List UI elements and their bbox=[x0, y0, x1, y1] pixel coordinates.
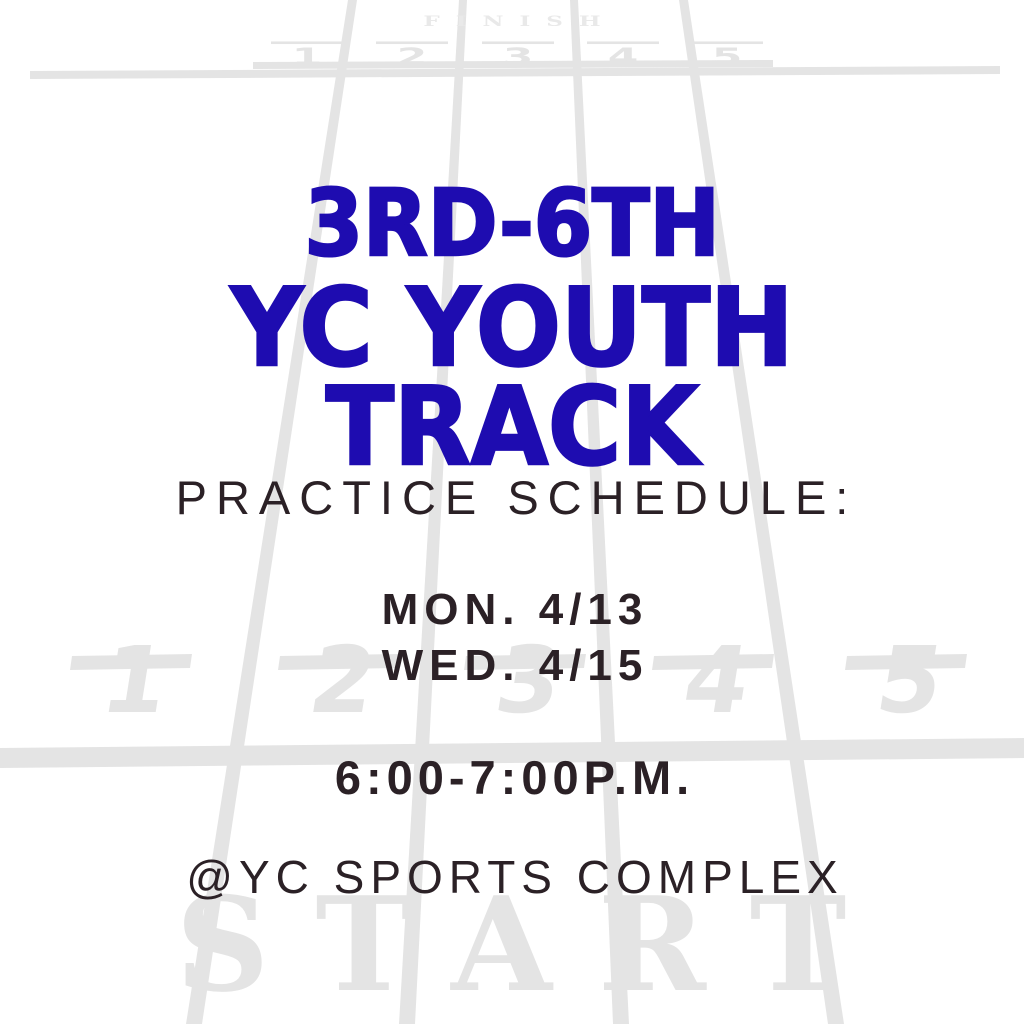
schedule-date-wednesday: WED. 4/15 bbox=[0, 638, 1024, 694]
flyer-content: 3RD-6TH YC YOUTH TRACK PRACTICE SCHEDULE… bbox=[0, 0, 1024, 1024]
headline-block: 3RD-6TH YC YOUTH TRACK bbox=[0, 182, 1024, 477]
schedule-venue: @YC SPORTS COMPLEX bbox=[0, 850, 1024, 904]
schedule-dates: MON. 4/13 WED. 4/15 bbox=[0, 582, 1024, 695]
flyer-poster: .lane-fill { fill: #e4e4e4; } .lane-num … bbox=[0, 0, 1024, 1024]
practice-schedule-label: PRACTICE SCHEDULE: bbox=[0, 470, 1024, 525]
schedule-date-monday: MON. 4/13 bbox=[0, 582, 1024, 638]
headline-line-2: YC YOUTH TRACK bbox=[36, 279, 988, 478]
headline-line-1: 3RD-6TH bbox=[41, 182, 983, 267]
schedule-time: 6:00-7:00P.M. bbox=[0, 750, 1024, 805]
